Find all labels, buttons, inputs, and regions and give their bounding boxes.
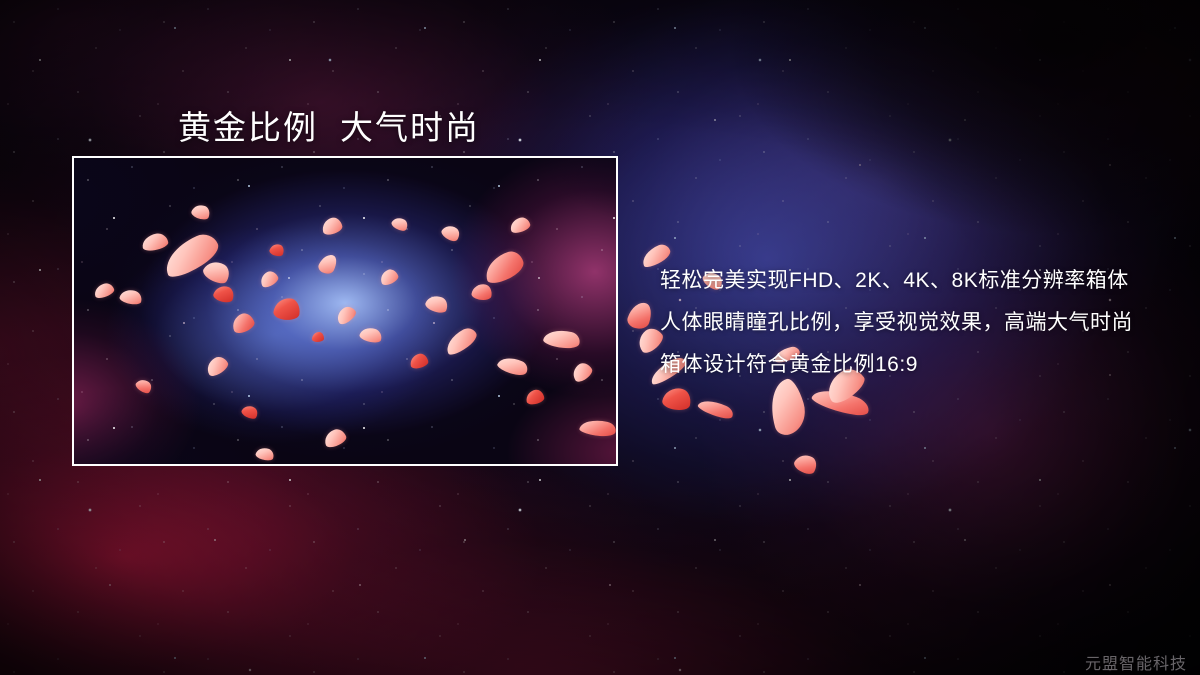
slide-title-main: 黄金比例 [178, 109, 318, 146]
petal [312, 332, 324, 342]
body-line-1: 轻松完美实现FHD、2K、4K、8K标准分辨率箱体 [660, 260, 1133, 302]
body-line-2: 人体眼睛瞳孔比例，享受视觉效果，高端大气时尚 [660, 302, 1133, 344]
slide-body-text: 轻松完美实现FHD、2K、4K、8K标准分辨率箱体 人体眼睛瞳孔比例，享受视觉效… [660, 260, 1133, 386]
preview-frame-content [74, 158, 616, 464]
preview-frame[interactable] [72, 156, 618, 466]
watermark: 元盟智能科技 [1085, 650, 1187, 674]
slide-title: 黄金比例大气时尚 [178, 101, 480, 149]
presentation-slide: 黄金比例大气时尚 轻松完美实现FHD、2K、4K、8K标准分辨率箱体 人体眼睛瞳… [0, 0, 1200, 675]
slide-title-sub: 大气时尚 [340, 109, 480, 146]
body-line-3: 箱体设计符合黄金比例16:9 [660, 344, 1133, 386]
